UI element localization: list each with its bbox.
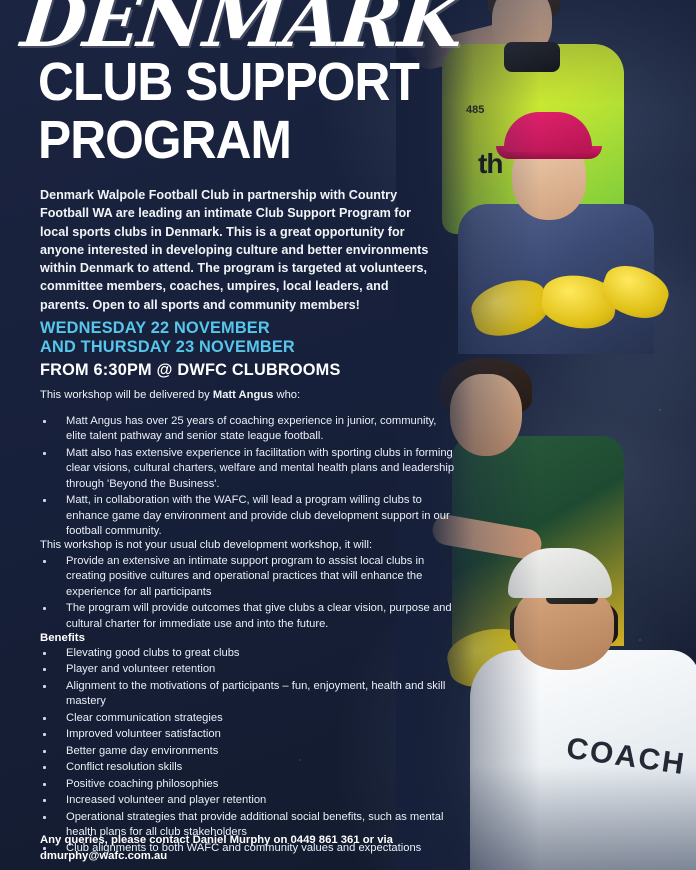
list-item: The program will provide outcomes that g…: [40, 601, 460, 632]
list-item: Alignment to the motivations of particip…: [40, 679, 460, 710]
headline-line-2: PROGRAM: [38, 114, 291, 167]
list-item: Matt, in collaboration with the WAFC, wi…: [40, 493, 460, 539]
text-content: DENMARK CLUB SUPPORT PROGRAM Denmark Wal…: [0, 0, 470, 870]
list-item: Provide an extensive an intimate support…: [40, 554, 460, 600]
list-item: Elevating good clubs to great clubs: [40, 646, 460, 661]
list-item: Clear communication strategies: [40, 711, 460, 726]
benefits-bullets-block: Elevating good clubs to great clubs Play…: [40, 646, 460, 858]
benefits-heading: Benefits: [40, 632, 85, 644]
list-item: Better game day environments: [40, 744, 460, 759]
list-item: Improved volunteer satisfaction: [40, 727, 460, 742]
headline-line-1: CLUB SUPPORT: [38, 56, 419, 109]
speaker-bullets-block: Matt Angus has over 25 years of coaching…: [40, 414, 460, 541]
speaker-name: Matt Angus: [213, 389, 274, 401]
list-item: Conflict resolution skills: [40, 760, 460, 775]
contact-joiner: or via: [360, 834, 393, 846]
list-item: Increased volunteer and player retention: [40, 793, 460, 808]
list-item: Player and volunteer retention: [40, 662, 460, 677]
list-item: Matt Angus has over 25 years of coaching…: [40, 414, 460, 445]
benefits-bullet-list: Elevating good clubs to great clubs Play…: [40, 646, 460, 857]
contact-email[interactable]: dmurphy@wafc.com.au: [40, 850, 167, 862]
event-dates: WEDNESDAY 22 NOVEMBER AND THURSDAY 23 NO…: [40, 318, 295, 356]
contact-name: Daniel Murphy: [193, 834, 271, 846]
contact-middle: on: [270, 834, 290, 846]
contact-footer: Any queries, please contact Daniel Murph…: [40, 832, 440, 864]
event-date-line-2: AND THURSDAY 23 NOVEMBER: [40, 337, 295, 356]
workshop-lead-in: This workshop is not your usual club dev…: [40, 538, 440, 554]
contact-phone[interactable]: 0449 861 361: [291, 834, 360, 846]
speaker-lead-in: This workshop will be delivered by Matt …: [40, 388, 440, 404]
event-date-line-1: WEDNESDAY 22 NOVEMBER: [40, 318, 295, 337]
intro-paragraph: Denmark Walpole Football Club in partner…: [40, 186, 440, 314]
list-item: Matt also has extensive experience in fa…: [40, 446, 460, 492]
speaker-lead-suffix: who:: [273, 389, 300, 401]
speaker-lead-prefix: This workshop will be delivered by: [40, 389, 213, 401]
event-time-venue: FROM 6:30PM @ DWFC CLUBROOMS: [40, 360, 341, 380]
poster-canvas: 485 th COACH DENMARK CLUB SUPPORT PROGRA…: [0, 0, 696, 870]
list-item: Positive coaching philosophies: [40, 777, 460, 792]
contact-prefix: Any queries, please contact: [40, 834, 193, 846]
speaker-bullet-list: Matt Angus has over 25 years of coaching…: [40, 414, 460, 540]
workshop-bullet-list: Provide an extensive an intimate support…: [40, 554, 460, 632]
workshop-bullets-block: Provide an extensive an intimate support…: [40, 554, 460, 633]
